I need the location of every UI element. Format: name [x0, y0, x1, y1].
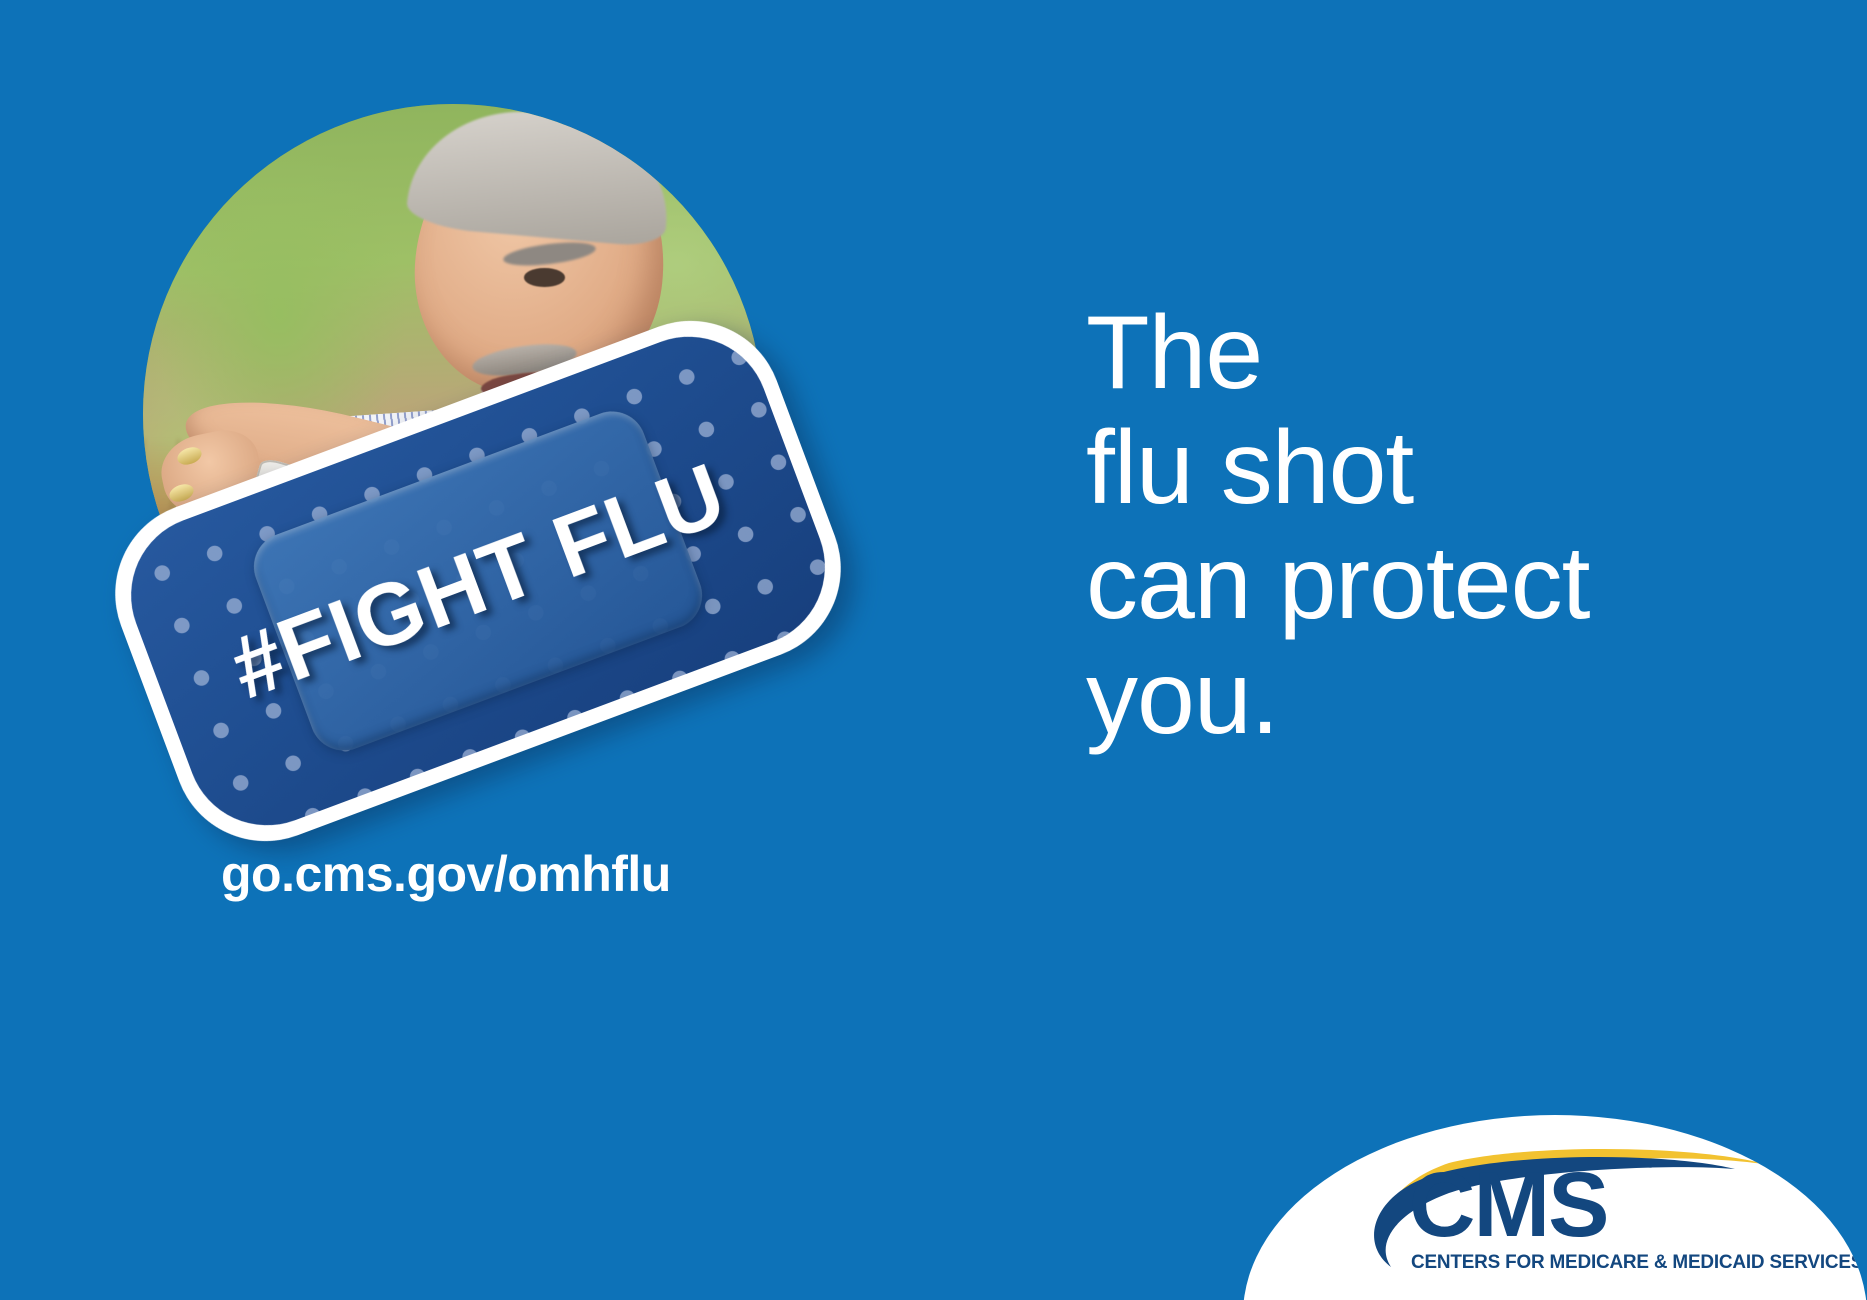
cms-wordmark: CMS — [1409, 1159, 1607, 1251]
man-eye — [524, 268, 564, 287]
poster-canvas: #FIGHT FLU The flu shot can protect you.… — [0, 0, 1867, 1300]
cms-tagline: CENTERS FOR MEDICARE & MEDICAID SERVICES — [1411, 1251, 1863, 1274]
campaign-url[interactable]: go.cms.gov/omhflu — [221, 845, 671, 903]
cms-logo-badge: CMS CENTERS FOR MEDICARE & MEDICAID SERV… — [1243, 1115, 1867, 1300]
headline-line-4: you. — [1086, 641, 1846, 756]
headline-line-1: The — [1086, 296, 1846, 411]
headline-line-2: flu shot — [1086, 411, 1846, 526]
cms-logo: CMS CENTERS FOR MEDICARE & MEDICAID SERV… — [1299, 1147, 1819, 1277]
headline-line-3: can protect — [1086, 526, 1846, 641]
headline: The flu shot can protect you. — [1086, 296, 1846, 756]
